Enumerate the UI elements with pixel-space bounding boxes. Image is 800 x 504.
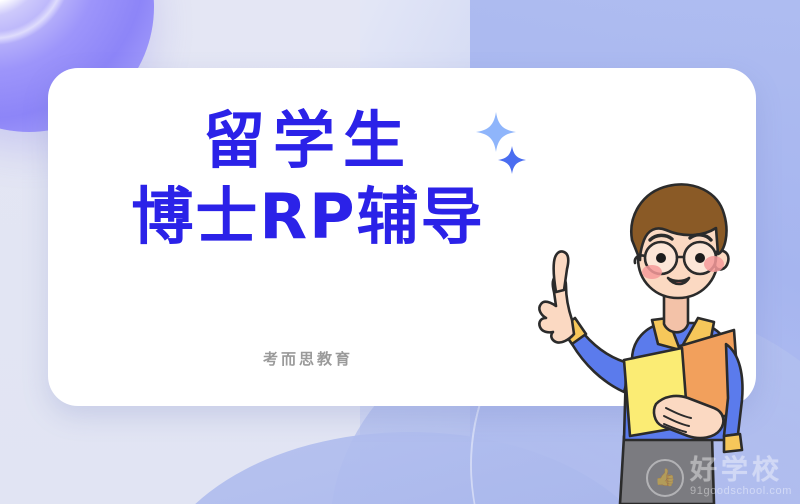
watermark: 👍 好学校 91goodschool.com [646, 457, 792, 498]
thumbs-up-icon: 👍 [646, 459, 684, 497]
brand-subtitle: 考而思教育 [48, 348, 568, 369]
illustration-student [528, 168, 800, 504]
headline-line-2: 博士RP辅导 [48, 181, 568, 252]
watermark-brand: 好学校 [690, 457, 792, 485]
sparkle-small-icon [497, 145, 527, 175]
watermark-url: 91goodschool.com [690, 486, 792, 498]
poster-canvas: 留学生 博士RP辅导 考而思教育 [0, 0, 800, 504]
